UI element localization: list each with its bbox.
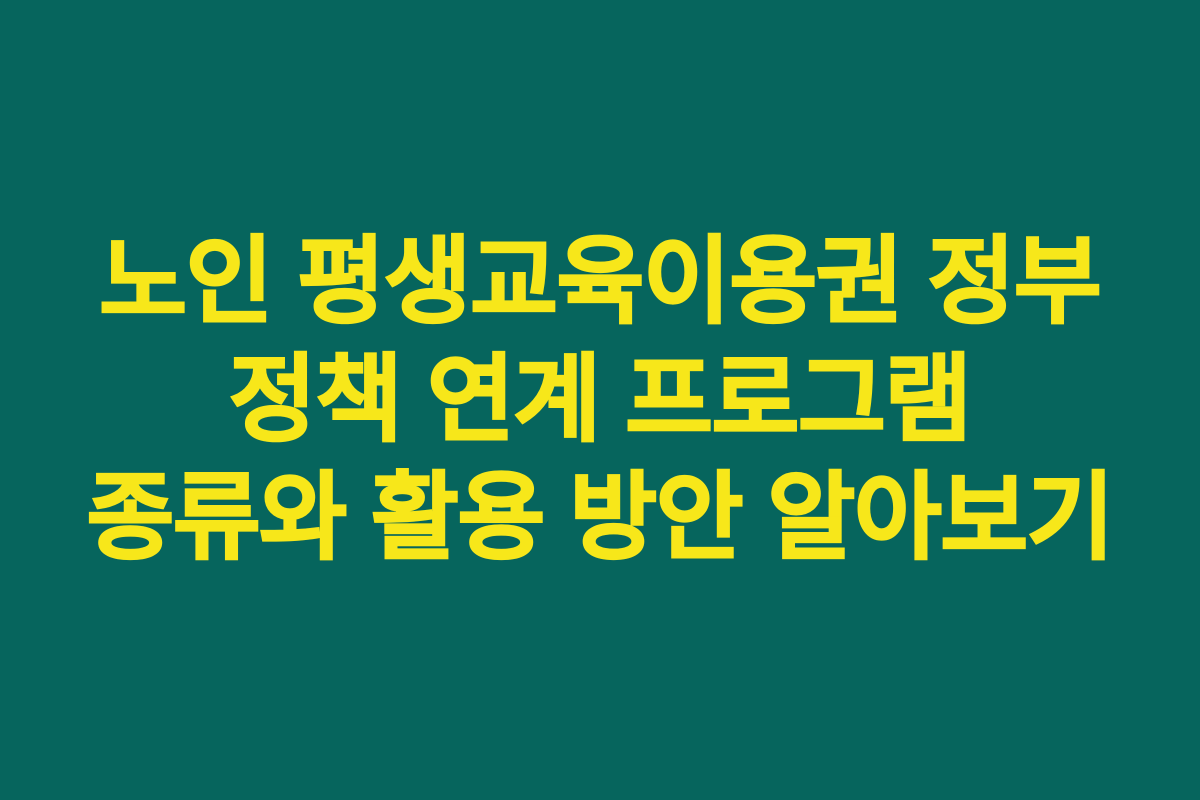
thumbnail-banner: 노인 평생교육이용권 정부 정책 연계 프로그램 종류와 활용 방안 알아보기	[0, 0, 1200, 800]
headline-line-3: 종류와 활용 방안 알아보기	[20, 459, 1180, 577]
headline-line-2: 정책 연계 프로그램	[20, 341, 1180, 459]
headline-line-1: 노인 평생교육이용권 정부	[20, 223, 1180, 341]
headline-block: 노인 평생교육이용권 정부 정책 연계 프로그램 종류와 활용 방안 알아보기	[20, 223, 1180, 577]
